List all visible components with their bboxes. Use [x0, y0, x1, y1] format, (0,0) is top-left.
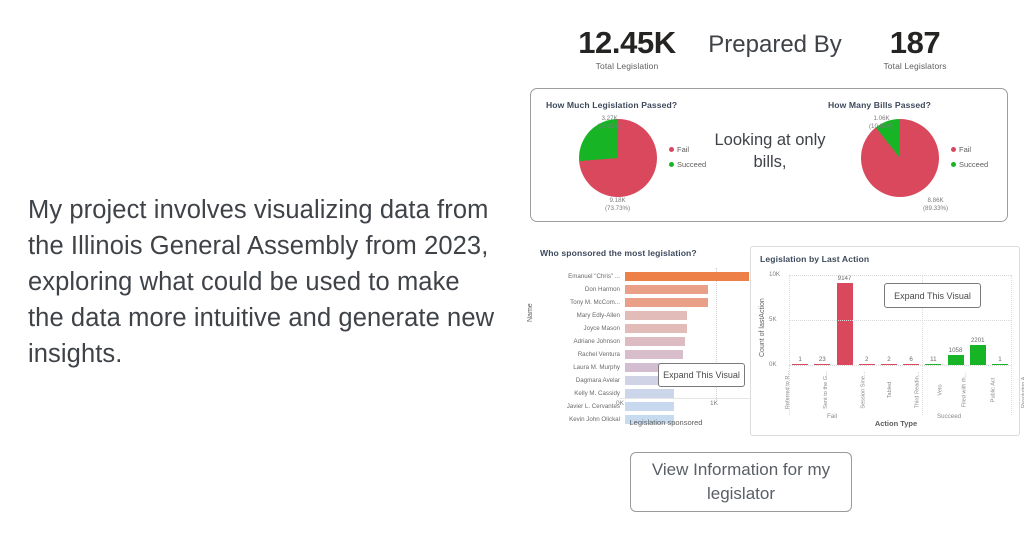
sponsor-bar-chart[interactable]: Who sponsored the most legislation? Name… [530, 248, 758, 433]
view-legislator-info-button[interactable]: View Information for my legislator [630, 452, 852, 512]
pie-chart-2-succeed-value: 1.06K [873, 115, 889, 122]
pie-chart-1-succeed-value: 3.27K [601, 115, 617, 122]
pie-chart-2-fail-value: 8.86K [927, 197, 943, 204]
last-action-chart-x-tick-labels: Referred to R...Sent to the G...Session … [789, 367, 1011, 413]
pie-chart-2[interactable]: 1.06K (10.67%) 8.86K (89.33%) [861, 119, 939, 197]
last-action-column-value: 2 [865, 356, 868, 363]
legend-item-succeed[interactable]: Succeed [951, 160, 988, 169]
sponsor-bar-track [625, 298, 758, 307]
sponsor-bar-fill[interactable] [625, 285, 708, 294]
sponsor-bar-row[interactable]: Adriane Johnson [544, 335, 758, 348]
last-action-chart-x-axis-label: Action Type [811, 419, 981, 428]
sponsor-bar-fill[interactable] [625, 324, 687, 333]
legend-item-succeed[interactable]: Succeed [669, 160, 706, 169]
sponsor-bar-label: Rachel Ventura [544, 351, 625, 358]
sponsor-bar-fill[interactable] [625, 272, 749, 281]
last-action-x-tick: Sent to the G... [827, 367, 865, 413]
sponsor-bar-chart-y-axis-label: Name [527, 303, 534, 322]
sponsor-bar-track [625, 324, 758, 333]
last-action-column-value: 11 [930, 356, 936, 363]
sponsor-bar-label: Joyce Mason [544, 325, 625, 332]
sponsor-bar-row[interactable]: Rachel Ventura [544, 348, 758, 361]
sponsor-bar-label: Mary Edly-Allen [544, 312, 625, 319]
pie-charts-card: How Much Legislation Passed? How Many Bi… [530, 88, 1008, 222]
last-action-x-tick: Referred to R... [789, 367, 827, 413]
sponsor-bar-track [625, 389, 758, 398]
legend-label-fail: Fail [677, 145, 689, 154]
last-action-column-value: 23 [819, 356, 826, 363]
sponsor-bar-label: Adriane Johnson [544, 338, 625, 345]
kpi-total-legislators: 187 Total Legislators [850, 26, 980, 71]
pie-chart-2-fail-label: 8.86K (89.33%) [923, 197, 948, 213]
pie-chart-2-legend[interactable]: Fail Succeed [951, 145, 988, 175]
last-action-column-value: 2 [887, 356, 890, 363]
sponsor-bar-chart-rows: Emanuel "Chris" ...Don HarmonTony M. McC… [544, 270, 758, 426]
sponsor-bar-label: Javier L. Cervantes [544, 403, 625, 410]
sponsor-bar-fill[interactable] [625, 337, 685, 346]
last-action-y-tick: 0K [769, 361, 777, 368]
legend-item-fail[interactable]: Fail [669, 145, 706, 154]
sponsor-bar-track [625, 402, 758, 411]
sponsor-bar-fill[interactable] [625, 298, 708, 307]
last-action-column-value: 1 [798, 356, 801, 363]
sponsor-bar-row[interactable]: Tony M. McCom... [544, 296, 758, 309]
sponsor-bar-row[interactable]: Javier L. Cervantes [544, 400, 758, 413]
legend-item-fail[interactable]: Fail [951, 145, 988, 154]
project-description-text: My project involves visualizing data fro… [28, 192, 498, 372]
pie-chart-2-title: How Many Bills Passed? [828, 100, 931, 110]
legend-label-succeed: Succeed [677, 160, 706, 169]
expand-column-visual-button[interactable]: Expand This Visual [884, 283, 981, 308]
legend-label-succeed: Succeed [959, 160, 988, 169]
last-action-gridline [789, 275, 1011, 276]
last-action-column-bar[interactable] [970, 345, 986, 365]
pie-chart-1-fail-percent: (73.73%) [605, 205, 630, 212]
last-action-column-value: 9147 [838, 275, 852, 282]
last-action-chart-y-axis-label: Count of lastAction [759, 298, 766, 357]
sponsor-bar-row[interactable]: Don Harmon [544, 283, 758, 296]
last-action-y-tick: 10K [769, 271, 780, 278]
legend-dot-fail [951, 147, 956, 152]
pie-chart-1[interactable]: 3.27K (26.27%) 9.18K (73.73%) [579, 119, 657, 197]
kpi-total-legislation: 12.45K Total Legislation [562, 26, 692, 71]
last-action-gridline [789, 365, 1011, 366]
pie-chart-1-fail-value: 9.18K [609, 197, 625, 204]
pie-chart-2-succeed-percent: (10.67%) [869, 123, 894, 130]
last-action-column-chart[interactable]: Legislation by Last Action Count of last… [750, 246, 1020, 436]
sponsor-bar-chart-xtick-0: 0K [616, 400, 624, 407]
sponsor-bar-row[interactable]: Emanuel "Chris" ... [544, 270, 758, 283]
sponsor-bar-chart-xtick-1: 1K [710, 400, 718, 407]
sponsor-bar-fill[interactable] [625, 402, 674, 411]
expand-bar-visual-button[interactable]: Expand This Visual [658, 363, 745, 387]
last-action-column-value: 6 [909, 356, 912, 363]
last-action-group-separator [1011, 275, 1012, 415]
kpi-row: 12.45K Total Legislation Prepared By 187… [520, 26, 1024, 86]
annotation-looking-at-only-bills: Looking at only bills, [709, 129, 831, 173]
sponsor-bar-fill[interactable] [625, 311, 687, 320]
last-action-chart-title: Legislation by Last Action [760, 254, 869, 264]
sponsor-bar-track [625, 350, 758, 359]
dashboard-screenshot: 12.45K Total Legislation Prepared By 187… [512, 0, 1024, 549]
pie-chart-1-title: How Much Legislation Passed? [546, 100, 677, 110]
legend-dot-succeed [669, 162, 674, 167]
sponsor-bar-track [625, 337, 758, 346]
sponsor-bar-label: Don Harmon [544, 286, 625, 293]
sponsor-bar-chart-x-axis-label: Legislation sponsored [586, 418, 746, 427]
sponsor-bar-label: Emanuel "Chris" ... [544, 273, 625, 280]
last-action-gridline [789, 320, 1011, 321]
sponsor-bar-row[interactable]: Kelly M. Cassidy [544, 387, 758, 400]
last-action-column-value: 2201 [971, 337, 985, 344]
pie-chart-2-fail-percent: (89.33%) [923, 205, 948, 212]
sponsor-bar-row[interactable]: Mary Edly-Allen [544, 309, 758, 322]
kpi-total-legislation-label: Total Legislation [562, 61, 692, 71]
sponsor-bar-chart-title: Who sponsored the most legislation? [540, 248, 697, 258]
legend-dot-fail [669, 147, 674, 152]
last-action-y-tick: 5K [769, 316, 777, 323]
sponsor-bar-track [625, 311, 758, 320]
pie-chart-1-legend[interactable]: Fail Succeed [669, 145, 706, 175]
sponsor-bar-row[interactable]: Joyce Mason [544, 322, 758, 335]
pie-chart-2-succeed-label: 1.06K (10.67%) [869, 115, 894, 131]
sponsor-bar-track [625, 272, 758, 281]
last-action-column-bar[interactable] [948, 355, 964, 365]
kpi-total-legislation-value: 12.45K [562, 26, 692, 60]
kpi-total-legislators-value: 187 [850, 26, 980, 60]
last-action-column-bar[interactable] [837, 283, 853, 365]
sponsor-bar-label: Kelly M. Cassidy [544, 390, 625, 397]
last-action-column-value: 1 [998, 356, 1001, 363]
pie-chart-1-fail-label: 9.18K (73.73%) [605, 197, 630, 213]
sponsor-bar-fill[interactable] [625, 350, 683, 359]
legend-label-fail: Fail [959, 145, 971, 154]
kpi-total-legislators-label: Total Legislators [850, 61, 980, 71]
last-action-column-value: 1058 [949, 347, 963, 354]
last-action-group-separator [789, 275, 790, 415]
sponsor-bar-track [625, 285, 758, 294]
sponsor-bar-fill[interactable] [625, 389, 674, 398]
pie-chart-1-succeed-label: 3.27K (26.27%) [597, 115, 622, 131]
sponsor-bar-label: Laura M. Murphy [544, 364, 625, 371]
prepared-by-heading: Prepared By [690, 31, 860, 59]
pie-chart-1-succeed-percent: (26.27%) [597, 123, 622, 130]
sponsor-bar-label: Dagmara Avelar [544, 377, 625, 384]
sponsor-bar-label: Tony M. McCom... [544, 299, 625, 306]
legend-dot-succeed [951, 162, 956, 167]
